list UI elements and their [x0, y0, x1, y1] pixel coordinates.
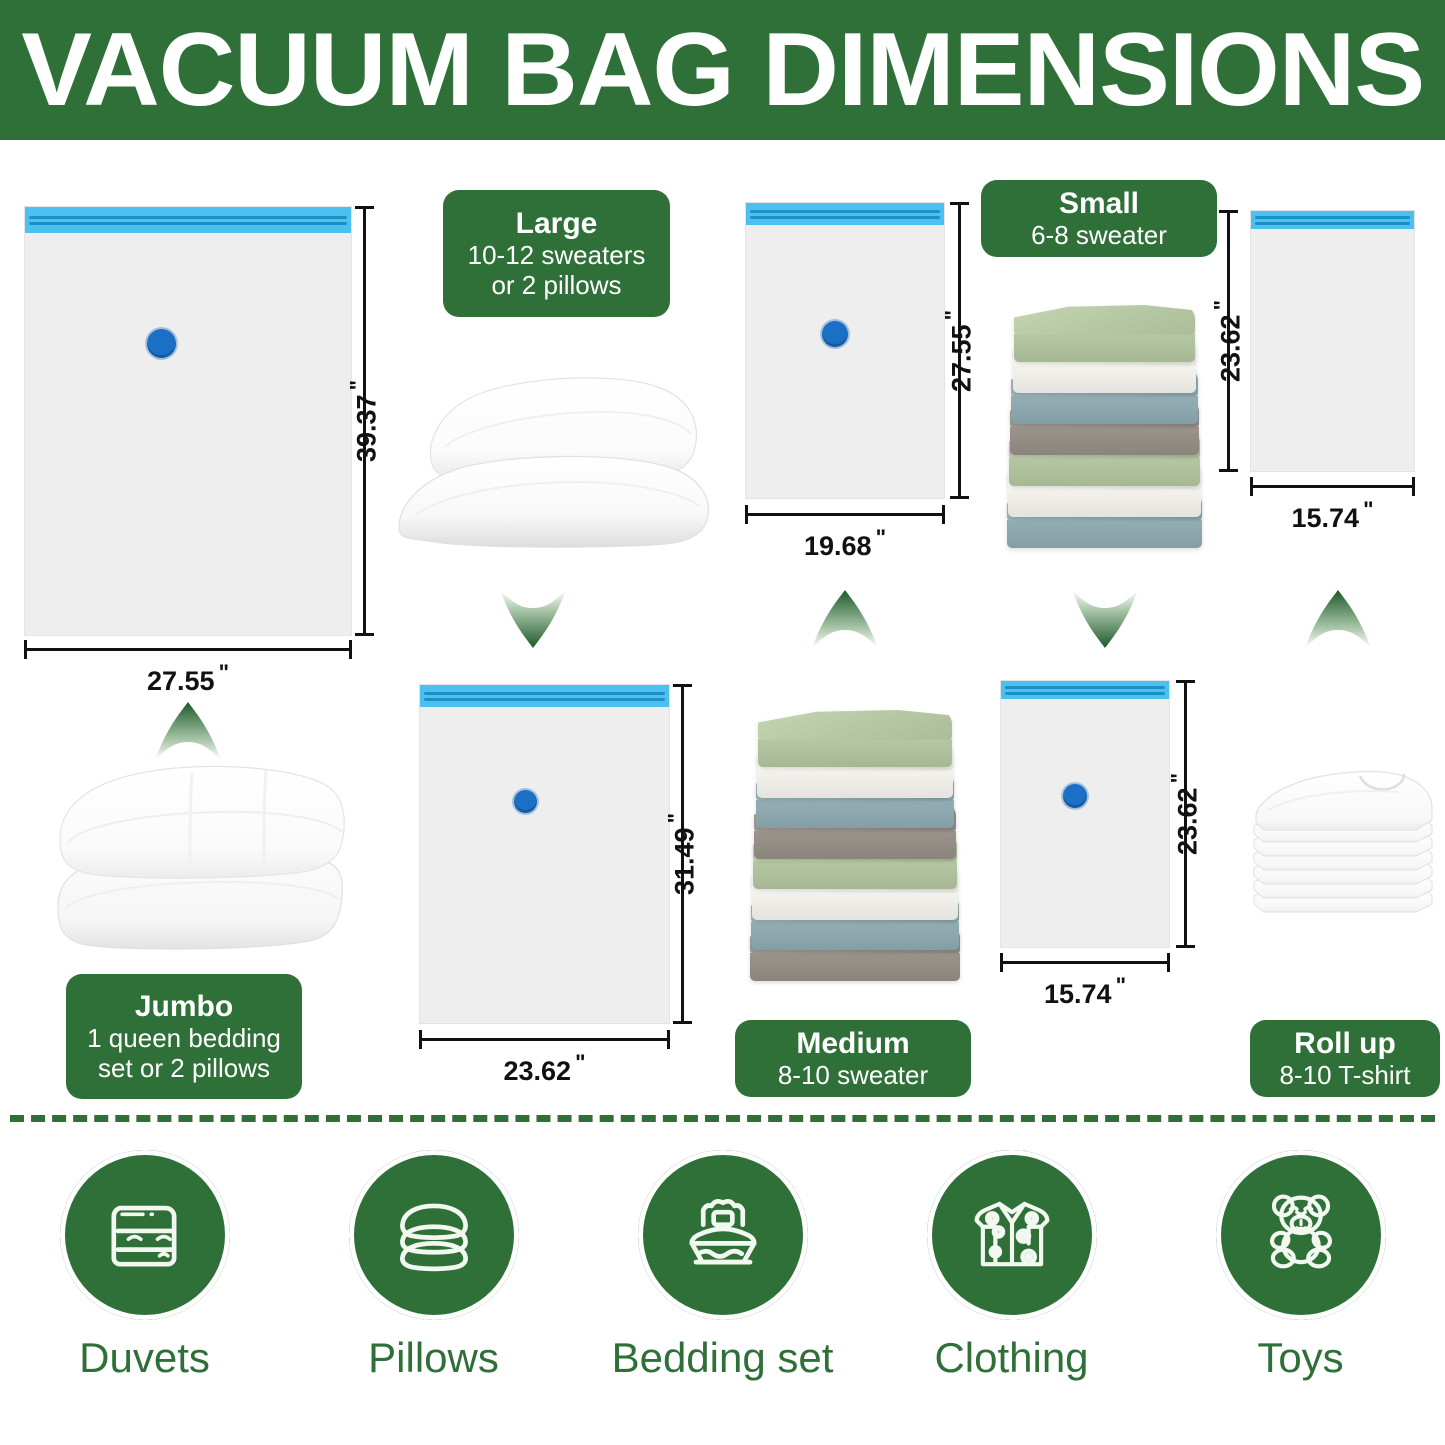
large-height-dimension: 31.49" — [673, 684, 691, 1024]
jumbo-height-value: 39.37 — [352, 394, 382, 462]
jumbo-width-value: 27.55 — [147, 666, 215, 696]
large-width-value: 23.62 — [503, 1056, 571, 1086]
fold-front-edge — [751, 922, 959, 951]
rollup-height-value: 23.62 — [1173, 787, 1203, 855]
pill-jumbo-title: Jumbo — [135, 990, 233, 1024]
medium-sweater-stack — [750, 710, 960, 982]
small-bag — [1250, 210, 1415, 472]
small-height-value: 23.62 — [1216, 314, 1246, 382]
duvet-photo — [42, 756, 347, 961]
fold-front-edge — [757, 770, 953, 799]
stacked-pillows-icon — [382, 1181, 486, 1290]
arrow-jumbo-up-icon — [153, 700, 223, 762]
fold-top-face — [758, 710, 952, 740]
large-height-value: 31.49 — [670, 827, 700, 895]
pill-medium-sub1: 8-10 sweater — [778, 1060, 928, 1090]
pill-large-sub1: 10-12 sweaters — [468, 240, 646, 270]
category-clothing[interactable]: Clothing — [867, 1150, 1156, 1382]
category-duvets[interactable]: Duvets — [0, 1150, 289, 1382]
large-width-dimension: 23.62" — [419, 1030, 670, 1048]
medium-width-dimension: 19.68" — [745, 505, 945, 523]
teddy-bear-icon — [1249, 1181, 1353, 1290]
category-bedding-set-label: Bedding set — [612, 1334, 834, 1382]
medium-height-dimension: 27.55" — [950, 202, 968, 499]
pill-large: Large 10-12 sweaters or 2 pillows — [443, 190, 670, 317]
small-width-dimension: 15.74" — [1250, 477, 1415, 495]
pillows-photo — [383, 352, 713, 552]
fold-front-edge — [754, 831, 956, 860]
pill-small-sub1: 6-8 sweater — [1031, 220, 1167, 250]
page-header: VACUUM BAG DIMENSIONS — [0, 0, 1445, 140]
bedding-set-circle — [638, 1150, 808, 1320]
arrow-medium-up-icon — [810, 588, 880, 650]
fold-front-edge — [752, 892, 958, 921]
tshirt-photo — [1248, 760, 1438, 920]
category-duvets-label: Duvets — [79, 1334, 210, 1382]
fold-front-edge — [1008, 489, 1201, 518]
fold-front-edge — [756, 800, 954, 829]
pill-jumbo: Jumbo 1 queen bedding set or 2 pillows — [66, 974, 302, 1099]
rollup-width-value: 15.74 — [1044, 979, 1112, 1009]
arrow-small-down-icon — [1070, 588, 1140, 650]
jumbo-width-dimension: 27.55" — [24, 640, 352, 658]
pill-rollup: Roll up 8-10 T-shirt — [1250, 1020, 1440, 1097]
fold-front-edge — [1010, 427, 1199, 456]
pill-rollup-title: Roll up — [1294, 1027, 1396, 1061]
pill-medium: Medium 8-10 sweater — [735, 1020, 971, 1097]
bag-zipper — [25, 207, 351, 233]
bag-zipper — [420, 685, 669, 707]
jumbo-bag — [24, 206, 352, 636]
category-pillows-label: Pillows — [368, 1334, 499, 1382]
pill-large-title: Large — [516, 207, 598, 241]
fold-front-edge — [1009, 458, 1200, 487]
fold-front-edge — [1014, 334, 1195, 363]
small-width-value: 15.74 — [1291, 503, 1359, 533]
category-bedding-set[interactable]: Bedding set — [578, 1150, 867, 1382]
fold-front-edge — [1013, 365, 1196, 394]
medium-height-value: 27.55 — [947, 324, 977, 392]
folded-duvet-icon — [93, 1181, 197, 1290]
bag-zipper — [746, 203, 944, 225]
pillows-circle — [349, 1150, 519, 1320]
clothing-circle — [927, 1150, 1097, 1320]
category-clothing-label: Clothing — [934, 1334, 1088, 1382]
arrow-rollup-up-icon — [1303, 588, 1373, 650]
folded-item — [758, 710, 952, 767]
category-pillows[interactable]: Pillows — [289, 1150, 578, 1382]
vacuum-valve-icon — [147, 329, 176, 358]
pill-jumbo-sub1: 1 queen bedding — [87, 1023, 281, 1053]
bed-icon — [671, 1181, 775, 1290]
bag-zipper — [1001, 681, 1169, 699]
page-title: VACUUM BAG DIMENSIONS — [21, 18, 1424, 122]
small-height-dimension: 23.62" — [1219, 210, 1237, 472]
pill-small: Small 6-8 sweater — [981, 180, 1217, 257]
fold-front-edge — [1011, 396, 1198, 425]
medium-bag — [745, 202, 945, 499]
pill-medium-title: Medium — [796, 1027, 909, 1061]
fold-front-edge — [750, 953, 960, 982]
rollup-bag — [1000, 680, 1170, 948]
category-toys[interactable]: Toys — [1156, 1150, 1445, 1382]
category-toys-label: Toys — [1257, 1334, 1343, 1382]
vacuum-valve-icon — [514, 790, 537, 813]
rollup-height-dimension: 23.62" — [1176, 680, 1194, 948]
section-divider — [10, 1115, 1435, 1122]
fold-front-edge — [758, 739, 952, 768]
arrow-large-down-icon — [498, 588, 568, 650]
bag-zipper — [1251, 211, 1414, 229]
folded-item — [1014, 305, 1195, 362]
shirt-icon — [960, 1181, 1064, 1290]
pill-jumbo-sub2: set or 2 pillows — [98, 1053, 270, 1083]
rollup-width-dimension: 15.74" — [1000, 953, 1170, 971]
duvets-circle — [60, 1150, 230, 1320]
medium-width-value: 19.68 — [804, 531, 872, 561]
fold-front-edge — [1007, 520, 1202, 549]
toys-circle — [1216, 1150, 1386, 1320]
fold-top-face — [1014, 305, 1195, 335]
fold-front-edge — [753, 861, 957, 890]
small-sweater-stack — [1007, 305, 1202, 550]
large-bag — [419, 684, 670, 1024]
jumbo-height-dimension: 39.37" — [355, 206, 373, 636]
pill-rollup-sub1: 8-10 T-shirt — [1279, 1060, 1410, 1090]
vacuum-valve-icon — [822, 321, 848, 347]
pill-large-sub2: or 2 pillows — [491, 270, 621, 300]
pill-small-title: Small — [1059, 187, 1139, 221]
category-list: Duvets Pillows — [0, 1150, 1445, 1382]
vacuum-valve-icon — [1063, 784, 1087, 808]
